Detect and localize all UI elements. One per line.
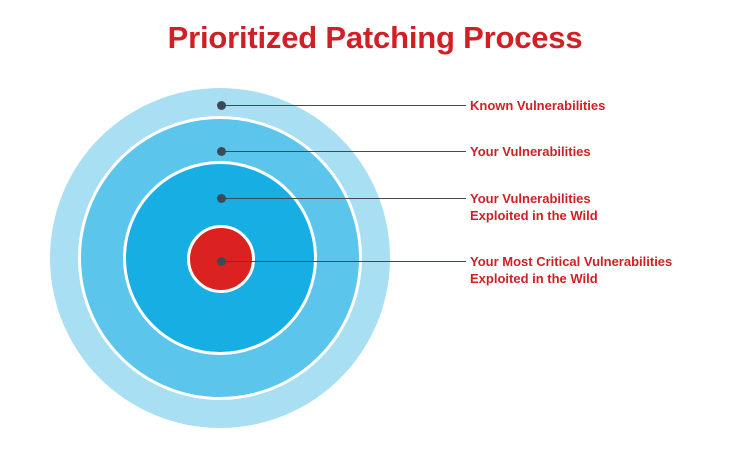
callout-label-your-vulnerabilities-exploited: Your Vulnerabilities Exploited in the Wi… xyxy=(470,190,598,224)
page-title: Prioritized Patching Process xyxy=(0,20,750,56)
callout-line-text: Exploited in the Wild xyxy=(470,207,598,224)
callout-line-text: Exploited in the Wild xyxy=(470,270,672,287)
leader-dot-your-vulnerabilities-exploited xyxy=(217,194,226,203)
callout-label-your-most-critical-exploited: Your Most Critical Vulnerabilities Explo… xyxy=(470,253,672,287)
leader-line-your-vulnerabilities-exploited xyxy=(221,198,466,199)
leader-dot-your-most-critical-exploited xyxy=(217,257,226,266)
leader-line-your-most-critical-exploited xyxy=(221,261,466,262)
leader-dot-known-vulnerabilities xyxy=(217,101,226,110)
callout-label-known-vulnerabilities: Known Vulnerabilities xyxy=(470,97,605,114)
callout-label-your-vulnerabilities: Your Vulnerabilities xyxy=(470,143,591,160)
callout-line-text: Your Vulnerabilities xyxy=(470,190,598,207)
callout-line-text: Your Vulnerabilities xyxy=(470,143,591,160)
diagram-canvas: Prioritized Patching Process Known Vulne… xyxy=(0,0,750,451)
leader-dot-your-vulnerabilities xyxy=(217,147,226,156)
leader-line-known-vulnerabilities xyxy=(221,105,466,106)
callout-line-text: Your Most Critical Vulnerabilities xyxy=(470,253,672,270)
callout-line-text: Known Vulnerabilities xyxy=(470,97,605,114)
leader-line-your-vulnerabilities xyxy=(221,151,466,152)
